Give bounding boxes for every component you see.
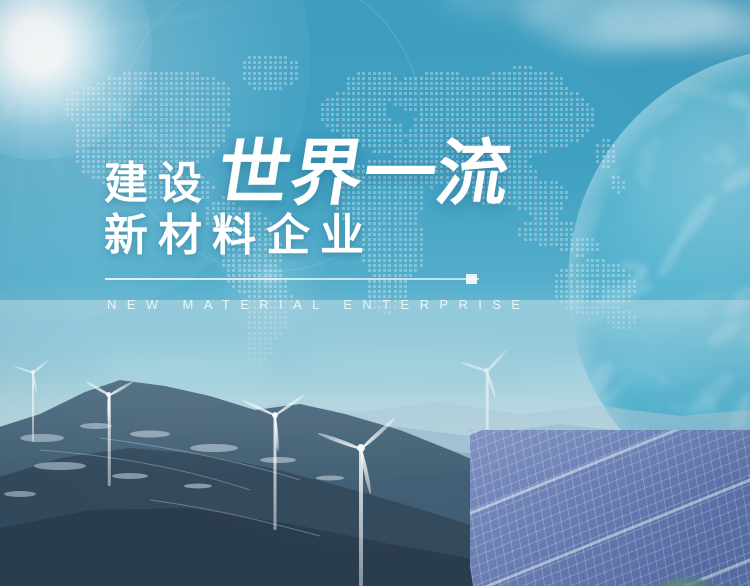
headline-block: 建设 世界一流 新材料企业 NEW MATERIAL ENTERPRISE [0, 0, 750, 340]
headline-line-1: 建设 世界一流 [104, 138, 510, 210]
subtitle: NEW MATERIAL ENTERPRISE [107, 298, 530, 312]
wind-turbine-icon [16, 358, 50, 442]
headline-line-2: 新材料企业 [104, 214, 374, 258]
wind-turbine-icon [240, 390, 310, 530]
rule-end-cap [466, 274, 477, 284]
wind-turbine-icon [316, 412, 406, 586]
solar-panel-array-icon [470, 430, 750, 586]
wind-turbine-icon [86, 376, 132, 486]
solar-panel-surface [470, 430, 750, 586]
headline-prefix: 建设 [104, 162, 212, 210]
headline-emphasis: 世界一流 [212, 138, 515, 210]
divider-rule [105, 278, 479, 280]
hero-banner: 建设 世界一流 新材料企业 NEW MATERIAL ENTERPRISE [0, 0, 750, 586]
